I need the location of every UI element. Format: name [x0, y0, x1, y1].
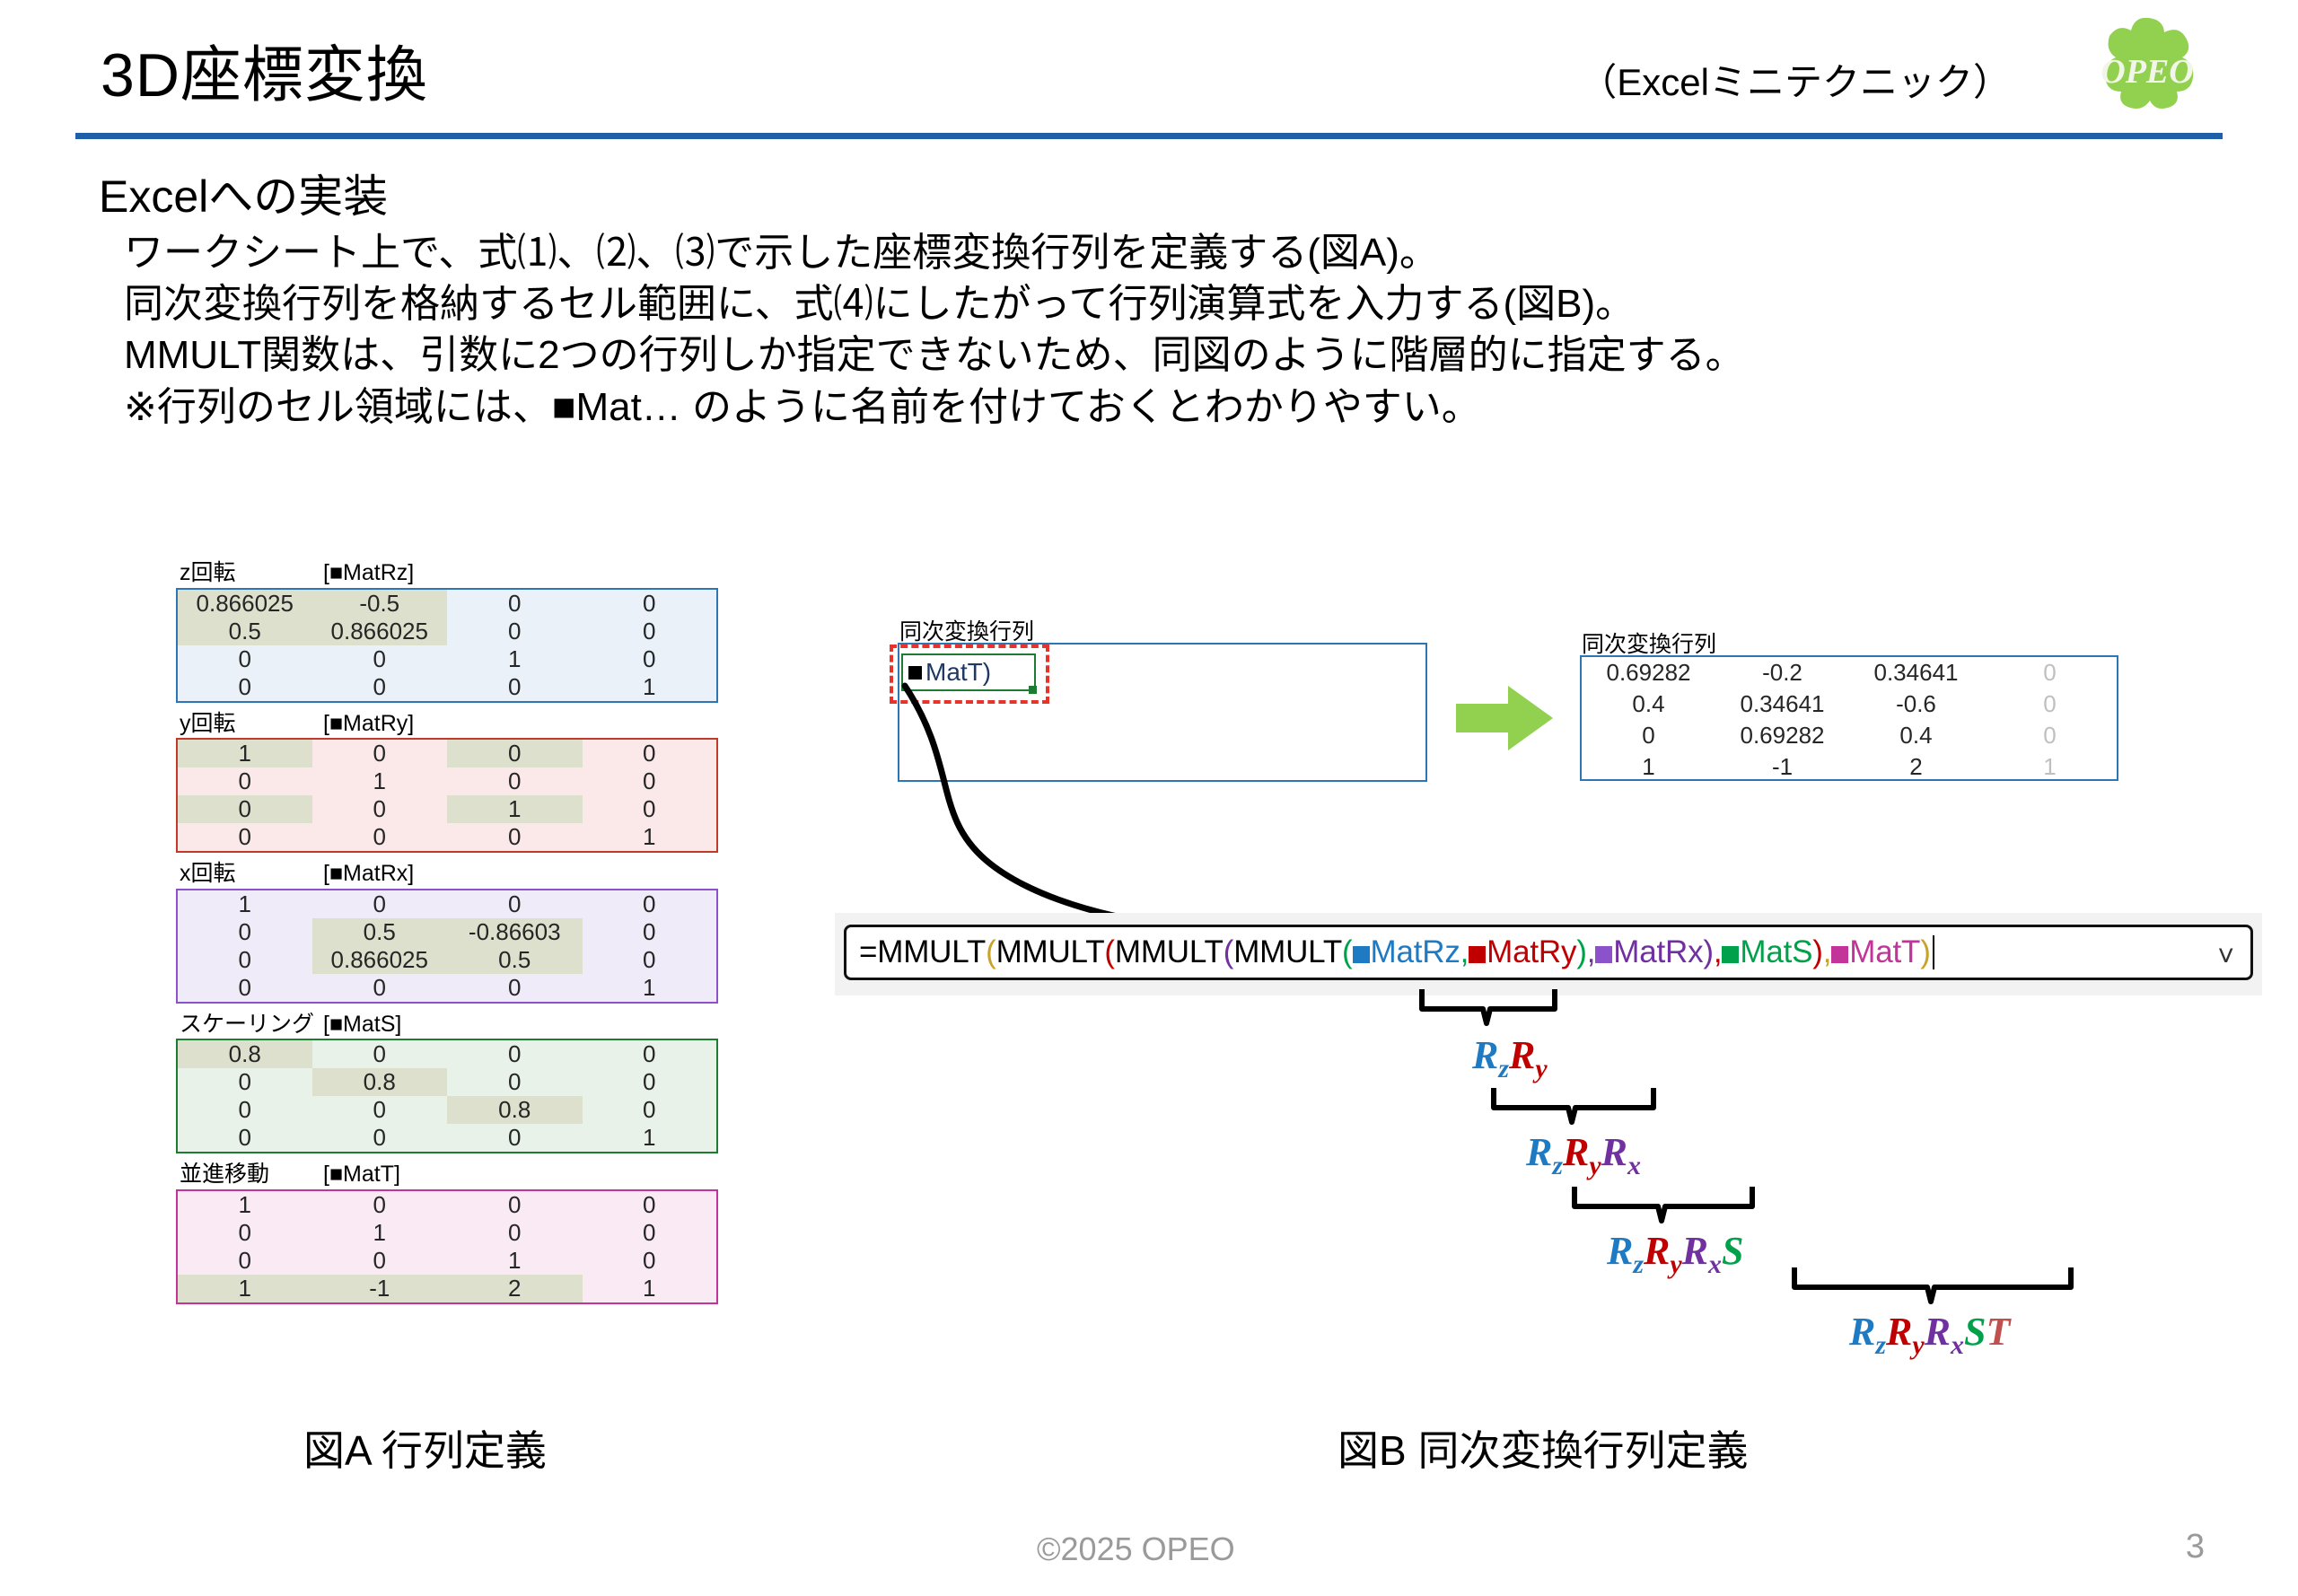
matrix-cell[interactable]: 1: [583, 823, 718, 852]
matrix-range-name: [■MatRx]: [323, 862, 414, 887]
formula-symbol: Rz: [1607, 1229, 1644, 1273]
matrix-cell[interactable]: 0: [312, 890, 448, 918]
matrix-name-label: y回転: [180, 712, 323, 737]
matrix-cell[interactable]: 1: [447, 1247, 583, 1275]
matrix-cell[interactable]: 0: [447, 823, 583, 852]
formula-equals-sign: =: [859, 934, 877, 969]
matrix-row: 1-121: [177, 1275, 717, 1303]
result-range-label: 同次変換行列: [1582, 627, 1716, 659]
matrix-cell[interactable]: 0: [312, 1096, 448, 1124]
matrix-row: 1000: [177, 1190, 717, 1219]
matrix-row: 0001: [177, 974, 717, 1003]
formula-token: ,: [1587, 934, 1596, 969]
formula-token: MMULT: [877, 934, 986, 969]
result-cell[interactable]: 0: [1983, 720, 2117, 751]
result-cell[interactable]: 0.34641: [1849, 657, 1983, 688]
matrix-block-1: z回転[■MatRz]0.866025-0.5000.50.8660250000…: [176, 561, 732, 703]
formula-token: MMULT: [1233, 934, 1342, 969]
matrix-block-2: y回転[■MatRy]1000010000100001: [176, 712, 732, 854]
brace-label-rz-ry-rx-s-t: RzRyRxST: [1849, 1309, 2010, 1361]
intro-line-4: ※行列のセル領域には、■Mat… のように名前を付けておくとわかりやすい。: [124, 381, 2074, 433]
matrix-cell[interactable]: 0: [583, 1247, 718, 1275]
formula-token: ,: [1823, 934, 1832, 969]
figure-a-caption: 図A 行列定義: [303, 1418, 547, 1478]
name-marker-square-icon: [1831, 946, 1848, 963]
formula-symbol: Rx: [1925, 1310, 1964, 1354]
matrix-range-name: [■MatT]: [323, 1162, 400, 1188]
formula-token: (: [1224, 934, 1233, 969]
chevron-down-icon[interactable]: ˅: [2217, 940, 2234, 973]
name-marker-square-icon: [1353, 946, 1370, 963]
result-cell[interactable]: 0.69282: [1582, 657, 1715, 688]
matrix-cell[interactable]: 0: [583, 739, 718, 767]
matrix-cell[interactable]: 1: [583, 673, 718, 702]
formula-token: MatRx: [1613, 934, 1703, 969]
matrix-row: 000.80: [177, 1096, 717, 1124]
matrix-cell[interactable]: 1: [177, 739, 312, 767]
matrix-cell[interactable]: 0: [177, 946, 312, 974]
formula-token: ): [1576, 934, 1586, 969]
matrix-cell[interactable]: -0.86603: [447, 918, 583, 946]
matrix-cell[interactable]: 1: [177, 1275, 312, 1303]
matrix-row: 00.5-0.866030: [177, 918, 717, 946]
matrix-cell[interactable]: -0.5: [312, 589, 448, 618]
matrix-cell[interactable]: 0: [312, 1190, 448, 1219]
matrix-cell[interactable]: 0: [312, 645, 448, 673]
logo-text: OPEO: [2101, 53, 2193, 91]
matrix-cell[interactable]: 0: [583, 618, 718, 645]
matrix-header: z回転[■MatRz]: [176, 561, 732, 586]
result-row: 1-121: [1582, 751, 2117, 783]
matrix-cell[interactable]: 0: [583, 890, 718, 918]
result-cell[interactable]: 1: [1582, 751, 1715, 783]
result-cell[interactable]: -0.6: [1849, 688, 1983, 720]
matrix-cell[interactable]: 0: [447, 589, 583, 618]
matrix-table[interactable]: 1000010000101-121: [176, 1189, 718, 1304]
formula-symbol: Ry: [1509, 1033, 1548, 1077]
matrix-cell[interactable]: 0.866025: [312, 618, 448, 645]
matrix-cell[interactable]: 0.866025: [177, 589, 312, 618]
matrix-cell[interactable]: -1: [312, 1275, 448, 1303]
matrix-cell[interactable]: 0: [447, 767, 583, 795]
matrix-row: 1000: [177, 890, 717, 918]
matrix-row: 0100: [177, 1219, 717, 1247]
copyright-text: ©2025 OPEO: [1037, 1530, 1235, 1568]
result-cell[interactable]: 0.4: [1582, 688, 1715, 720]
formula-token: MatT: [1849, 934, 1920, 969]
matrix-cell[interactable]: 0: [177, 1219, 312, 1247]
matrix-name-label: z回転: [180, 561, 323, 586]
brace-rz-ry-rx-s-t: [1791, 1264, 2078, 1305]
matrix-row: 1000: [177, 739, 717, 767]
matrix-cell[interactable]: 1: [312, 1219, 448, 1247]
matrix-cell[interactable]: 0.5: [447, 946, 583, 974]
result-cell[interactable]: -1: [1715, 751, 1849, 783]
matrix-cell[interactable]: 0: [312, 1039, 448, 1068]
matrix-name-label: スケーリング: [180, 1013, 323, 1038]
formula-token: ): [1812, 934, 1822, 969]
intro-text-block: Excelへの実装 ワークシート上で、式⑴、⑵、⑶で示した座標変換行列を定義する…: [99, 171, 2074, 433]
result-row: 0.69282-0.20.346410: [1582, 657, 2117, 688]
matrix-row: 0.8000: [177, 1039, 717, 1068]
result-cell[interactable]: 0.4: [1849, 720, 1983, 751]
brace-label-rz-ry-rx: RzRyRx: [1526, 1129, 1641, 1181]
figure-a-matrix-definitions: z回転[■MatRz]0.866025-0.5000.50.8660250000…: [176, 561, 732, 1313]
formula-token: MatRy: [1487, 934, 1576, 969]
matrix-header: y回転[■MatRy]: [176, 712, 732, 737]
matrix-block-4: スケーリング[■MatS]0.800000.800000.800001: [176, 1013, 732, 1154]
matrix-row: 0.50.86602500: [177, 618, 717, 645]
matrix-cell[interactable]: 0: [583, 589, 718, 618]
matrix-cell[interactable]: 1: [583, 1275, 718, 1303]
matrix-block-5: 並進移動[■MatT]1000010000101-121: [176, 1162, 732, 1304]
matrix-row: 0.866025-0.500: [177, 589, 717, 618]
matrix-cell[interactable]: 0: [312, 823, 448, 852]
formula-bar-text[interactable]: =MMULT(MMULT(MMULT(MMULT(MatRz,MatRy),Ma…: [846, 934, 1934, 970]
matrix-cell[interactable]: 0.5: [177, 618, 312, 645]
figure-b-caption: 図B 同次変換行列定義: [1338, 1418, 1748, 1478]
matrix-cell[interactable]: 0: [447, 1124, 583, 1153]
matrix-cell[interactable]: 0: [177, 645, 312, 673]
formula-symbol: Ry: [1644, 1229, 1682, 1273]
result-cell[interactable]: 0: [1983, 688, 2117, 720]
formula-symbol: S: [1722, 1229, 1743, 1273]
matrix-cell[interactable]: 0: [177, 1068, 312, 1096]
formula-token: (: [986, 934, 996, 969]
formula-symbol: Rz: [1526, 1130, 1563, 1174]
matrix-cell[interactable]: 0: [583, 1219, 718, 1247]
matrix-cell[interactable]: 0: [447, 618, 583, 645]
matrix-table[interactable]: 1000010000100001: [176, 738, 718, 853]
matrix-cell[interactable]: 0: [177, 795, 312, 823]
formula-token: ,: [1460, 934, 1469, 969]
text-caret: [1933, 935, 1934, 969]
matrix-cell[interactable]: 0.866025: [312, 946, 448, 974]
matrix-cell[interactable]: 0: [447, 974, 583, 1003]
result-cell[interactable]: -0.2: [1715, 657, 1849, 688]
matrix-table[interactable]: 100000.5-0.86603000.8660250.500001: [176, 889, 718, 1004]
matrix-cell[interactable]: 0: [177, 1247, 312, 1275]
matrix-cell[interactable]: 0: [312, 795, 448, 823]
matrix-cell[interactable]: 0.8: [447, 1096, 583, 1124]
result-row: 0.40.34641-0.60: [1582, 688, 2117, 720]
result-matrix-table: 0.69282-0.20.3464100.40.34641-0.6000.692…: [1582, 657, 2117, 783]
matrix-block-3: x回転[■MatRx]100000.5-0.86603000.8660250.5…: [176, 862, 732, 1004]
matrix-cell[interactable]: 0: [177, 1096, 312, 1124]
matrix-range-name: [■MatS]: [323, 1013, 401, 1038]
matrix-cell[interactable]: 1: [177, 890, 312, 918]
matrix-cell[interactable]: 0: [312, 974, 448, 1003]
formula-symbol: S: [1964, 1310, 1986, 1354]
matrix-cell[interactable]: 0: [447, 890, 583, 918]
formula-token: ): [1703, 934, 1713, 969]
matrix-row: 0010: [177, 645, 717, 673]
matrix-cell[interactable]: 0.5: [312, 918, 448, 946]
formula-token: MatRz: [1371, 934, 1460, 969]
brace-rz-ry-rx-s: [1571, 1183, 1759, 1224]
formula-symbol: Rx: [1682, 1229, 1722, 1273]
matrix-row: 0010: [177, 795, 717, 823]
green-right-arrow-icon: [1456, 682, 1555, 754]
formula-token: (: [1104, 934, 1114, 969]
formula-symbol: Rz: [1849, 1310, 1886, 1354]
result-cell[interactable]: 0: [1983, 657, 2117, 688]
formula-symbol: Rz: [1472, 1033, 1509, 1077]
matrix-cell[interactable]: 0: [583, 1190, 718, 1219]
name-marker-square-icon: [1469, 946, 1486, 963]
matrix-cell[interactable]: 1: [583, 974, 718, 1003]
matrix-cell[interactable]: 1: [447, 645, 583, 673]
formula-bar[interactable]: =MMULT(MMULT(MMULT(MMULT(MatRz,MatRy),Ma…: [844, 925, 2253, 980]
brace-label-rz-ry-rx-s: RzRyRxS: [1607, 1228, 1743, 1280]
brace-rz-ry: [1418, 986, 1562, 1027]
matrix-table[interactable]: 0.800000.800000.800001: [176, 1039, 718, 1153]
matrix-cell[interactable]: 0: [177, 974, 312, 1003]
matrix-cell[interactable]: 2: [447, 1275, 583, 1303]
matrix-cell[interactable]: 0: [583, 795, 718, 823]
intro-line-1: ワークシート上で、式⑴、⑵、⑶で示した座標変換行列を定義する(図A)。: [124, 227, 2074, 278]
matrix-cell[interactable]: 0: [447, 1068, 583, 1096]
matrix-cell[interactable]: 1: [312, 767, 448, 795]
opeo-logo-icon: OPEO: [2075, 18, 2219, 122]
matrix-cell[interactable]: 0: [447, 1219, 583, 1247]
result-cell[interactable]: 1: [1983, 751, 2117, 783]
matrix-cell[interactable]: 1: [177, 1190, 312, 1219]
matrix-cell[interactable]: 0: [177, 767, 312, 795]
matrix-cell[interactable]: 0: [312, 739, 448, 767]
matrix-cell[interactable]: 0: [177, 1124, 312, 1153]
matrix-cell[interactable]: 0: [583, 918, 718, 946]
result-row: 00.692820.40: [1582, 720, 2117, 751]
matrix-cell[interactable]: 0: [583, 767, 718, 795]
matrix-cell[interactable]: 0: [177, 673, 312, 702]
intro-line-3: MMULT関数は、引数に2つの行列しか指定できないため、同図のように階層的に指定…: [124, 329, 2074, 381]
name-marker-square-icon: [1595, 946, 1612, 963]
brace-label-rz-ry: RzRy: [1472, 1032, 1548, 1084]
matrix-name-label: 並進移動: [180, 1162, 323, 1188]
name-marker-square-icon: [1722, 946, 1739, 963]
matrix-header: x回転[■MatRx]: [176, 862, 732, 887]
matrix-name-label: x回転: [180, 862, 323, 887]
matrix-cell[interactable]: 0.8: [312, 1068, 448, 1096]
matrix-cell[interactable]: 0: [447, 1039, 583, 1068]
matrix-table[interactable]: 0.866025-0.5000.50.8660250000100001: [176, 588, 718, 703]
formula-symbol: T: [1986, 1310, 2010, 1354]
matrix-cell[interactable]: 0: [447, 673, 583, 702]
matrix-cell[interactable]: 0: [177, 823, 312, 852]
result-cell[interactable]: 0: [1582, 720, 1715, 751]
brace-rz-ry-rx: [1490, 1084, 1661, 1126]
matrix-cell[interactable]: 0: [583, 946, 718, 974]
page-number: 3: [2186, 1528, 2205, 1566]
formula-symbol: Ry: [1886, 1310, 1925, 1354]
matrix-cell[interactable]: 0: [312, 673, 448, 702]
matrix-cell[interactable]: 0.8: [177, 1039, 312, 1068]
page-title: 3D座標変換: [101, 25, 428, 114]
result-cell[interactable]: 0.69282: [1715, 720, 1849, 751]
matrix-cell[interactable]: 0: [447, 739, 583, 767]
source-range-label: 同次変換行列: [899, 614, 1034, 646]
callout-connector-curve: [880, 664, 1526, 934]
matrix-row: 00.8660250.50: [177, 946, 717, 974]
matrix-cell[interactable]: 1: [447, 795, 583, 823]
matrix-cell[interactable]: 0: [312, 1247, 448, 1275]
matrix-header: スケーリング[■MatS]: [176, 1013, 732, 1038]
matrix-row: 0100: [177, 767, 717, 795]
matrix-range-name: [■MatRy]: [323, 712, 414, 737]
formula-token: ,: [1714, 934, 1723, 969]
matrix-row: 0001: [177, 823, 717, 852]
matrix-cell[interactable]: 0: [583, 645, 718, 673]
formula-token: MatS: [1740, 934, 1812, 969]
matrix-cell[interactable]: 0: [583, 1068, 718, 1096]
formula-token: MMULT: [1115, 934, 1224, 969]
matrix-row: 0010: [177, 1247, 717, 1275]
slide-canvas: 3D座標変換 （Excelミニテクニック） OPEO Excelへの実装 ワーク…: [0, 0, 2298, 1596]
matrix-cell[interactable]: 0: [583, 1096, 718, 1124]
result-cell[interactable]: 0.34641: [1715, 688, 1849, 720]
formula-symbol: Rx: [1601, 1130, 1641, 1174]
formula-token: (: [1342, 934, 1352, 969]
formula-token: MMULT: [996, 934, 1105, 969]
title-divider: [75, 133, 2223, 139]
matrix-range-name: [■MatRz]: [323, 561, 414, 586]
matrix-cell[interactable]: 0: [447, 1190, 583, 1219]
matrix-cell[interactable]: 0: [312, 1124, 448, 1153]
intro-line-2: 同次変換行列を格納するセル範囲に、式⑷にしたがって行列演算式を入力する(図B)。: [124, 278, 2074, 329]
matrix-cell[interactable]: 0: [583, 1039, 718, 1068]
matrix-cell[interactable]: 1: [583, 1124, 718, 1153]
matrix-row: 0001: [177, 673, 717, 702]
matrix-row: 00.800: [177, 1068, 717, 1096]
result-cell[interactable]: 2: [1849, 751, 1983, 783]
matrix-header: 並進移動[■MatT]: [176, 1162, 732, 1188]
formula-symbol: Ry: [1563, 1130, 1601, 1174]
matrix-cell[interactable]: 0: [177, 918, 312, 946]
header-subtitle: （Excelミニテクニック）: [1579, 52, 2011, 107]
matrix-row: 0001: [177, 1124, 717, 1153]
formula-token: ): [1920, 934, 1930, 969]
intro-lead: Excelへの実装: [99, 171, 2074, 224]
